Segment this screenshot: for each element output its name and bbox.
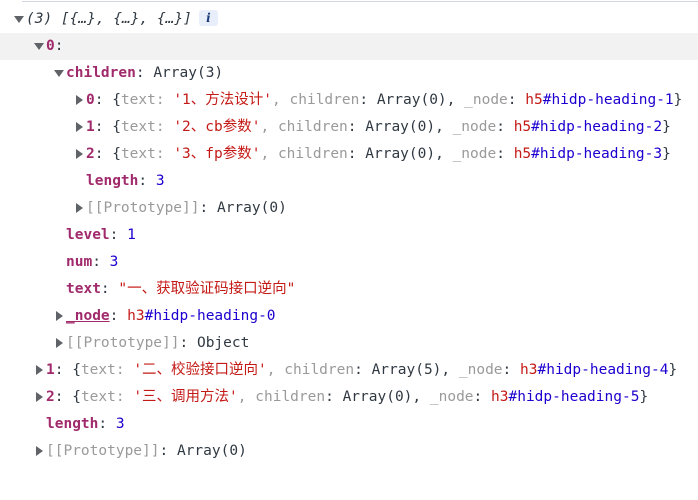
token-idx: 0 — [86, 92, 95, 108]
console-object-tree: (3) [{…}, {…}, {…}]i0:children: Array(3)… — [0, 0, 698, 500]
token-plain: : — [325, 389, 342, 405]
token-key: num — [66, 254, 92, 270]
token-dim: children — [278, 119, 348, 135]
token-str: '1、方法设计' — [173, 92, 272, 108]
token-plain: : — [348, 119, 365, 135]
tree-row-content: level: 1 — [66, 222, 136, 249]
token-punct: : — [200, 200, 217, 216]
token-plain: , — [435, 146, 452, 162]
token-preview: (3) [{…}, {…}, {…}] — [26, 11, 192, 27]
token-str: '三、调用方法' — [133, 389, 237, 405]
token-punct: : — [110, 308, 127, 324]
token-proto: [[Prototype]] — [86, 200, 200, 216]
disclosure-spacer — [32, 410, 46, 437]
disclosure-triangle-closed-icon[interactable] — [32, 383, 46, 410]
tree-row-children-0[interactable]: 0: {text: '1、方法设计', children: Array(0), … — [0, 87, 698, 114]
token-punct: : — [95, 119, 112, 135]
token-node-tag[interactable]: h3 — [127, 308, 144, 324]
token-dim: text — [121, 146, 156, 162]
token-proto: [[Prototype]] — [66, 335, 180, 351]
tree-row-content: length: 3 — [46, 411, 125, 438]
token-node-tag[interactable]: h3 — [491, 389, 508, 405]
token-str: '2、cb参数' — [173, 119, 260, 135]
disclosure-triangle-open-icon[interactable] — [12, 5, 26, 32]
token-node-id[interactable]: #hidp-heading-1 — [543, 92, 674, 108]
disclosure-triangle-closed-icon[interactable] — [72, 113, 86, 140]
token-node-tag[interactable]: h3 — [520, 362, 537, 378]
token-plain: Object — [197, 335, 249, 351]
token-num: 3 — [110, 254, 119, 270]
token-node-id[interactable]: #hidp-heading-0 — [145, 308, 276, 324]
token-punct: : — [101, 281, 118, 297]
token-node-tag[interactable]: h5 — [514, 119, 531, 135]
tree-row-content: 0: {text: '1、方法设计', children: Array(0), … — [86, 87, 682, 114]
token-plain: } — [674, 92, 683, 108]
tree-row-item-0[interactable]: 0: — [0, 33, 698, 60]
token-punct: : — [136, 65, 153, 81]
disclosure-spacer — [52, 275, 66, 302]
tree-row-children-1[interactable]: 1: {text: '2、cb参数', children: Array(0), … — [0, 114, 698, 141]
token-dim: _node — [430, 389, 474, 405]
token-node-id[interactable]: #hidp-heading-5 — [508, 389, 639, 405]
token-punct: : — [95, 146, 112, 162]
token-num: 3 — [156, 173, 165, 189]
token-plain: Array(0) — [177, 443, 247, 459]
token-punct: : — [98, 416, 115, 432]
token-dim: _node — [459, 362, 503, 378]
token-str: '3、fp参数' — [173, 146, 260, 162]
tree-row-item-2[interactable]: 2: {text: '三、调用方法', children: Array(0), … — [0, 384, 698, 411]
tree-row-content: [[Prototype]]: Array(0) — [46, 438, 247, 465]
token-dim: children — [284, 362, 354, 378]
token-plain: Array(0) — [217, 200, 287, 216]
top-divider — [22, 1, 698, 2]
token-plain: Array(3) — [153, 65, 223, 81]
token-dim: : — [156, 146, 173, 162]
token-dim: , — [272, 92, 289, 108]
tree-row-children[interactable]: children: Array(3) — [0, 60, 698, 87]
token-dim: : — [116, 389, 133, 405]
tree-row-children-proto[interactable]: [[Prototype]]: Array(0) — [0, 195, 698, 222]
tree-row-content: length: 3 — [86, 168, 165, 195]
tree-row-content: 0: — [46, 33, 63, 60]
disclosure-spacer — [72, 167, 86, 194]
token-punct: : — [55, 38, 64, 54]
token-plain: { — [112, 119, 121, 135]
token-dim: _node — [464, 92, 508, 108]
token-plain: Array(0) — [365, 146, 435, 162]
token-plain: , — [412, 389, 429, 405]
token-plain: , — [447, 92, 464, 108]
tree-row-children-2[interactable]: 2: {text: '3、fp参数', children: Array(0), … — [0, 141, 698, 168]
token-dim: , — [267, 362, 284, 378]
token-plain: : — [348, 146, 365, 162]
token-dim: text — [121, 92, 156, 108]
tree-row-num[interactable]: num: 3 — [0, 249, 698, 276]
disclosure-triangle-closed-icon[interactable] — [72, 86, 86, 113]
token-node-id[interactable]: #hidp-heading-2 — [531, 119, 662, 135]
token-idx: 0 — [46, 38, 55, 54]
tree-rows-container: (3) [{…}, {…}, {…}]i0:children: Array(3)… — [0, 6, 698, 465]
token-num: 1 — [127, 227, 136, 243]
disclosure-triangle-open-icon[interactable] — [52, 59, 66, 86]
token-dim: text — [121, 119, 156, 135]
token-dim: , — [260, 146, 277, 162]
token-dim: text — [81, 362, 116, 378]
tree-row-children-length[interactable]: length: 3 — [0, 168, 698, 195]
token-punct: : — [138, 173, 155, 189]
disclosure-triangle-closed-icon[interactable] — [72, 194, 86, 221]
token-plain: : — [503, 362, 520, 378]
token-dim: _node — [453, 119, 497, 135]
token-punct: : — [110, 227, 127, 243]
token-key-u: _node — [66, 308, 110, 324]
token-idx: 1 — [46, 362, 55, 378]
token-punct: : — [92, 254, 109, 270]
token-node-tag[interactable]: h5 — [525, 92, 542, 108]
tree-row-content: [[Prototype]]: Array(0) — [86, 195, 287, 222]
disclosure-triangle-closed-icon[interactable] — [32, 437, 46, 464]
token-plain: : — [508, 92, 525, 108]
token-plain: } — [662, 146, 671, 162]
token-key: length — [46, 416, 98, 432]
token-dim: children — [278, 146, 348, 162]
token-plain: { — [112, 92, 121, 108]
tree-row-content: text: "一、获取验证码接口逆向" — [66, 276, 295, 303]
token-dim: , — [238, 389, 255, 405]
token-plain: : — [354, 362, 371, 378]
token-dim: children — [290, 92, 360, 108]
tree-row-content: [[Prototype]]: Object — [66, 330, 249, 357]
token-dim: _node — [453, 146, 497, 162]
token-idx: 2 — [86, 146, 95, 162]
token-punct: : — [180, 335, 197, 351]
disclosure-spacer — [52, 221, 66, 248]
tree-row-root-array[interactable]: (3) [{…}, {…}, {…}]i — [0, 6, 698, 33]
token-plain: : — [496, 146, 513, 162]
tree-row-item-1[interactable]: 1: {text: '二、校验接口逆向', children: Array(5)… — [0, 357, 698, 384]
token-punct: : — [55, 362, 72, 378]
token-plain: : — [359, 92, 376, 108]
token-plain: , — [441, 362, 458, 378]
token-plain: Array(5) — [372, 362, 442, 378]
disclosure-triangle-closed-icon[interactable] — [52, 329, 66, 356]
token-key: text — [66, 281, 101, 297]
token-node-id[interactable]: #hidp-heading-3 — [531, 146, 662, 162]
disclosure-triangle-open-icon[interactable] — [32, 32, 46, 59]
token-plain: } — [668, 362, 677, 378]
tree-row-content: 1: {text: '二、校验接口逆向', children: Array(5)… — [46, 357, 677, 384]
token-plain: } — [662, 119, 671, 135]
token-dim: : — [116, 362, 133, 378]
tree-row-item0-proto[interactable]: [[Prototype]]: Object — [0, 330, 698, 357]
token-punct: : — [95, 92, 112, 108]
disclosure-triangle-closed-icon[interactable] — [72, 140, 86, 167]
token-dim: , — [260, 119, 277, 135]
token-dim: : — [156, 119, 173, 135]
tree-row-content: 2: {text: '3、fp参数', children: Array(0), … — [86, 141, 671, 168]
token-plain: : — [496, 119, 513, 135]
tree-row-root-length[interactable]: length: 3 — [0, 411, 698, 438]
token-key: length — [86, 173, 138, 189]
token-dim: children — [255, 389, 325, 405]
tree-row-text[interactable]: text: "一、获取验证码接口逆向" — [0, 276, 698, 303]
tree-row-node[interactable]: _node: h3#hidp-heading-0 — [0, 303, 698, 330]
disclosure-triangle-closed-icon[interactable] — [52, 302, 66, 329]
token-punct: : — [160, 443, 177, 459]
tree-row-content: 2: {text: '三、调用方法', children: Array(0), … — [46, 384, 648, 411]
tree-row-content: num: 3 — [66, 249, 118, 276]
token-plain: { — [72, 362, 81, 378]
token-node-tag[interactable]: h5 — [514, 146, 531, 162]
tree-row-content: 1: {text: '2、cb参数', children: Array(0), … — [86, 114, 671, 141]
token-plain: { — [112, 146, 121, 162]
token-idx: 2 — [46, 389, 55, 405]
disclosure-spacer — [52, 248, 66, 275]
token-plain: , — [435, 119, 452, 135]
token-plain: : — [474, 389, 491, 405]
token-plain: Array(0) — [343, 389, 413, 405]
token-key: level — [66, 227, 110, 243]
token-dim: text — [81, 389, 116, 405]
tree-row-root-proto[interactable]: [[Prototype]]: Array(0) — [0, 438, 698, 465]
token-punct: : — [55, 389, 72, 405]
token-node-id[interactable]: #hidp-heading-4 — [537, 362, 668, 378]
token-num: 3 — [116, 416, 125, 432]
token-plain: } — [639, 389, 648, 405]
token-plain: { — [72, 389, 81, 405]
token-dim: : — [156, 92, 173, 108]
tree-row-content: (3) [{…}, {…}, {…}] — [26, 6, 192, 33]
tree-row-content: children: Array(3) — [66, 60, 223, 87]
info-badge-icon[interactable]: i — [199, 10, 218, 26]
token-plain: Array(0) — [377, 92, 447, 108]
token-str: '二、校验接口逆向' — [133, 362, 266, 378]
token-proto: [[Prototype]] — [46, 443, 160, 459]
tree-row-level[interactable]: level: 1 — [0, 222, 698, 249]
tree-row-content: _node: h3#hidp-heading-0 — [66, 303, 276, 330]
token-str: "一、获取验证码接口逆向" — [118, 281, 295, 297]
token-plain: Array(0) — [365, 119, 435, 135]
disclosure-triangle-closed-icon[interactable] — [32, 356, 46, 383]
token-key: children — [66, 65, 136, 81]
token-idx: 1 — [86, 119, 95, 135]
